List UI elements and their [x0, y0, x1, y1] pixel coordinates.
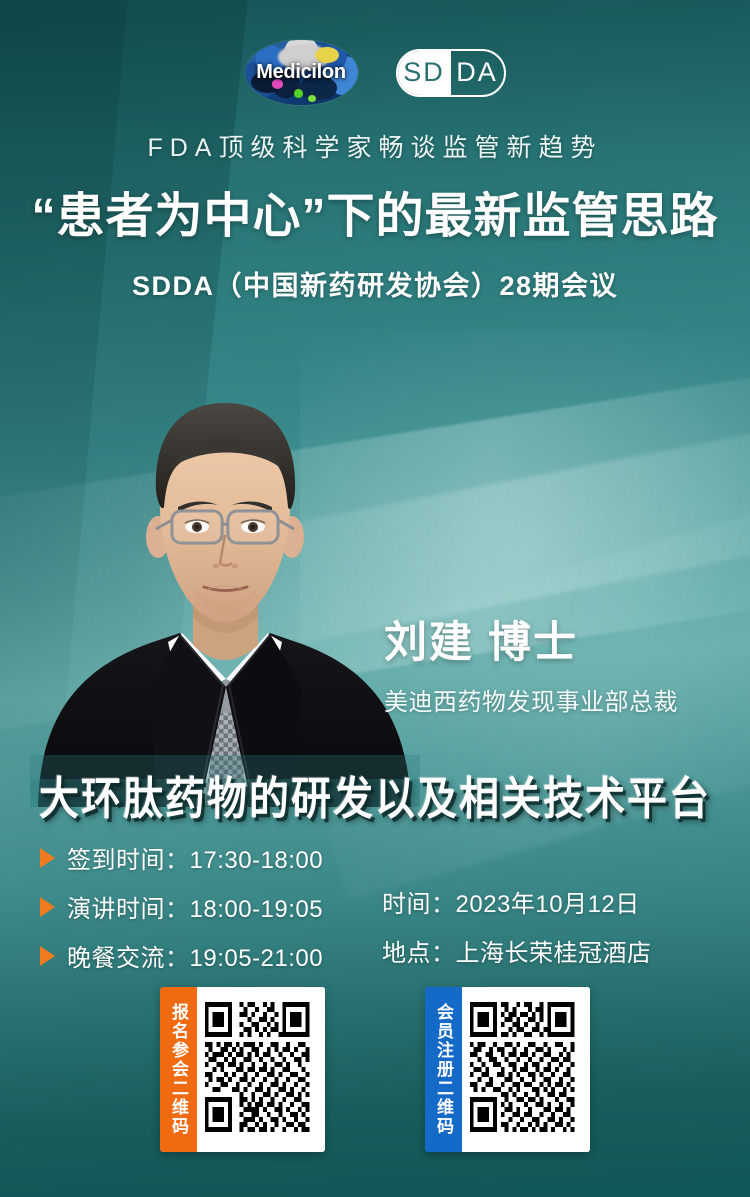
subtitle-text: SDDA（中国新药研发协会）28期会议 — [0, 264, 750, 303]
page-title: “患者为中心”下的最新监管思路 — [0, 176, 750, 246]
schedule-item-text: 演讲时间：18:00-19:05 — [67, 889, 323, 924]
kicker-text: FDA顶级科学家畅谈监管新趋势 — [0, 128, 750, 164]
qr-code-row: 报名参会二维码 — [0, 987, 750, 1152]
event-venue: 地点：上海长荣桂冠酒店 — [382, 933, 652, 968]
schedule-list: 签到时间：17:30-18:00 演讲时间：18:00-19:05 晚餐交流：1… — [40, 840, 370, 987]
speaker-block: 刘建 博士 美迪西药物发现事业部总裁 — [384, 608, 714, 717]
qr-code-icon[interactable] — [197, 987, 325, 1152]
membership-qr-card[interactable]: 会员注册二维码 — [425, 987, 590, 1152]
event-meta: 时间：2023年10月12日 地点：上海长荣桂冠酒店 — [382, 840, 652, 982]
speaker-portrait-photo — [30, 387, 420, 807]
conference-poster: Medicilon SD DA FDA顶级科学家畅谈监管新趋势 “患者为中心”下… — [0, 0, 750, 1197]
membership-qr-label: 会员注册二维码 — [425, 987, 462, 1152]
registration-qr-label: 报名参会二维码 — [160, 987, 197, 1152]
triangle-bullet-icon — [40, 946, 55, 966]
list-item: 演讲时间：18:00-19:05 — [40, 889, 370, 924]
schedule-item-text: 晚餐交流：19:05-21:00 — [67, 938, 323, 973]
topic-text: 大环肽药物的研发以及相关技术平台 — [39, 763, 711, 828]
triangle-bullet-icon — [40, 848, 55, 868]
registration-qr-card[interactable]: 报名参会二维码 — [160, 987, 325, 1152]
speaker-role: 美迪西药物发现事业部总裁 — [384, 682, 714, 717]
schedule-item-text: 签到时间：17:30-18:00 — [67, 840, 323, 875]
sdda-logo: SD DA — [396, 49, 506, 97]
logo-blob — [294, 89, 303, 97]
medicilon-wordmark: Medicilon — [256, 61, 346, 84]
logo-row: Medicilon SD DA — [0, 40, 750, 105]
list-item: 晚餐交流：19:05-21:00 — [40, 938, 370, 973]
speaker-name: 刘建 博士 — [384, 608, 714, 670]
sdda-logo-left-letters: SD — [398, 51, 451, 95]
event-date: 时间：2023年10月12日 — [382, 884, 652, 919]
info-row: 签到时间：17:30-18:00 演讲时间：18:00-19:05 晚餐交流：1… — [0, 840, 750, 987]
logo-blob — [308, 95, 316, 102]
title-block: FDA顶级科学家畅谈监管新趋势 “患者为中心”下的最新监管思路 SDDA（中国新… — [0, 128, 750, 303]
triangle-bullet-icon — [40, 897, 55, 917]
topic-banner: 大环肽药物的研发以及相关技术平台 — [0, 766, 750, 824]
sdda-logo-right-letters: DA — [451, 51, 504, 95]
qr-code-icon[interactable] — [462, 987, 590, 1152]
list-item: 签到时间：17:30-18:00 — [40, 840, 370, 875]
medicilon-logo: Medicilon — [245, 40, 358, 105]
